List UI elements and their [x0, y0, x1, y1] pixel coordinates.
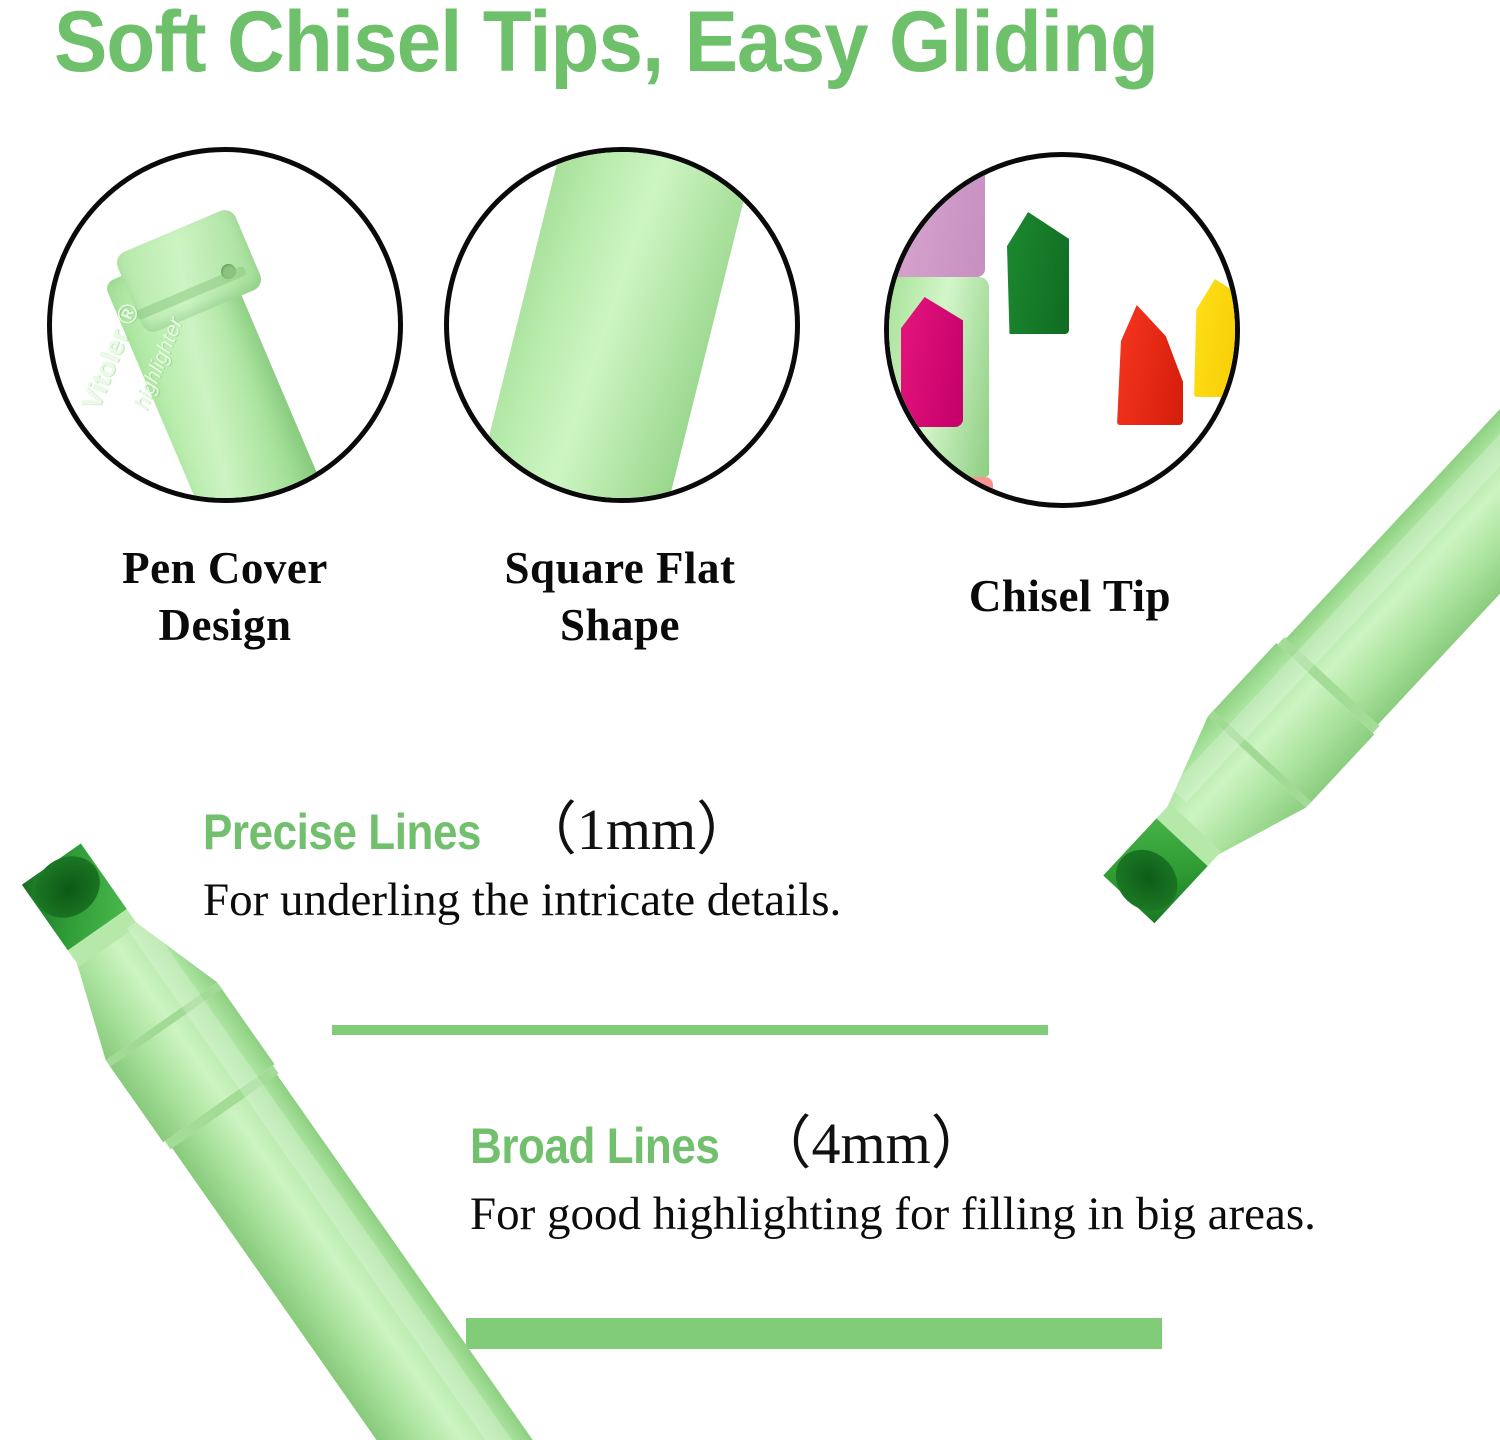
callout-circle-chisel-tip [884, 152, 1240, 508]
callout-circle-pen-cover: Vitoler ® highlighter [47, 147, 403, 503]
nib-red [1117, 305, 1183, 425]
page-title: Soft Chisel Tips, Easy Gliding [54, 0, 1217, 90]
callout-circle-square-flat [444, 147, 800, 503]
nib-magenta [901, 297, 963, 427]
feature-label-broad-lines: Broad Lines [470, 1114, 719, 1178]
thin-highlighter-stroke [332, 1025, 1048, 1035]
nib-yellow [1194, 279, 1235, 397]
broad-highlighter-stroke [466, 1318, 1162, 1349]
caption-line-1: Square Flat [450, 540, 790, 597]
feature-heading-broad-lines: Broad Lines（4mm） [470, 1112, 989, 1191]
caption-pen-cover-design: Pen Cover Design [55, 540, 395, 654]
nib-green [1007, 212, 1069, 334]
caption-line-2: Design [55, 597, 395, 654]
pen-cap-vent-hole-icon [221, 264, 236, 279]
caption-chisel-tip: Chisel Tip [900, 568, 1240, 625]
caption-line-2: Shape [450, 597, 790, 654]
barrel-violet [889, 157, 985, 277]
callout-image-pen-cover: Vitoler ® highlighter [52, 152, 398, 498]
feature-measure-precise-lines: （1mm） [519, 797, 754, 862]
feature-heading-precise-lines: Precise Lines（1mm） [203, 798, 754, 877]
caption-line-1: Pen Cover [55, 540, 395, 597]
callout-image-chisel-tips [889, 157, 1235, 503]
callout-image-square-flat [449, 152, 795, 498]
caption-line-1: Chisel Tip [900, 568, 1240, 625]
feature-measure-broad-lines: （4mm） [753, 1111, 988, 1176]
feature-description-broad-lines: For good highlighting for filling in big… [470, 1186, 1316, 1242]
caption-square-flat-shape: Square Flat Shape [450, 540, 790, 654]
feature-description-precise-lines: For underling the intricate details. [203, 872, 841, 928]
barrel-pink [889, 477, 993, 503]
pen-barrel-flat [453, 152, 763, 498]
feature-label-precise-lines: Precise Lines [203, 800, 481, 864]
